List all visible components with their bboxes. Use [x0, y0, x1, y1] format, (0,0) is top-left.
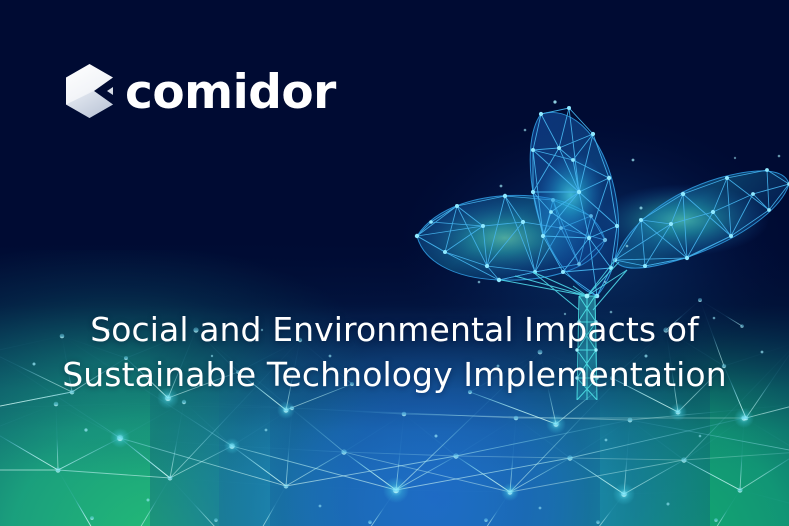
page-title: Social and Environmental Impacts of Sust… — [0, 307, 789, 397]
headline-line-1: Social and Environmental Impacts of — [34, 307, 755, 352]
comidor-hexagon-logo-icon — [66, 64, 113, 118]
brand-wordmark: comidor — [125, 69, 336, 116]
marketing-banner: comidor Social and Environmental Impacts… — [0, 0, 789, 526]
brand-logo[interactable]: comidor — [66, 64, 336, 118]
headline-line-2: Sustainable Technology Implementation — [34, 352, 755, 397]
